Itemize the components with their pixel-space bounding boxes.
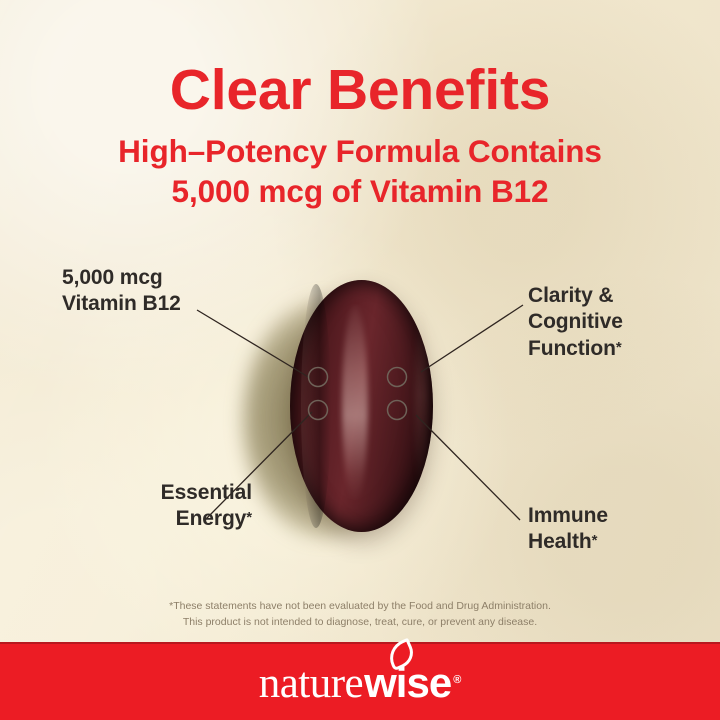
callout-dose-line-1: 5,000 mcg [62, 265, 252, 291]
callout-immune-line-2: Health* [528, 529, 708, 555]
footer-brand-band: nature wise ® [0, 642, 720, 720]
callout-energy: Essential Energy* [62, 480, 252, 533]
callout-energy-line-2-text: Energy [176, 507, 247, 530]
callout-dose-line-2: Vitamin B12 [62, 291, 252, 317]
fda-disclaimer: *These statements have not been evaluate… [0, 598, 720, 631]
subtitle-line-2: 5,000 mcg of Vitamin B12 [0, 171, 720, 211]
callout-clarity-asterisk: * [616, 339, 622, 356]
leader-line-clarity [421, 305, 523, 372]
callout-clarity-line-2: Cognitive [528, 309, 708, 335]
subtitle-line-1: High–Potency Formula Contains [0, 131, 720, 171]
callout-energy-line-2: Energy* [62, 506, 252, 532]
capsule-seam [301, 284, 331, 528]
logo-text-nature: nature [259, 659, 363, 708]
callout-energy-asterisk: * [246, 509, 252, 526]
callout-immune: Immune Health* [528, 503, 708, 556]
logo-text-wise: wise [364, 659, 451, 707]
callout-energy-line-1: Essential [62, 480, 252, 506]
callout-clarity-line-1: Clarity & [528, 283, 708, 309]
callout-immune-line-1: Immune [528, 503, 708, 529]
callout-immune-line-2-text: Health [528, 530, 592, 553]
callout-clarity-line-3: Function* [528, 336, 708, 362]
naturewise-logo: nature wise ® [0, 644, 720, 720]
page-title: Clear Benefits [0, 62, 720, 119]
callout-clarity: Clarity & Cognitive Function* [528, 283, 708, 362]
disclaimer-line-1: *These statements have not been evaluate… [0, 598, 720, 614]
callout-immune-asterisk: * [592, 532, 598, 549]
softgel-capsule-image [290, 280, 433, 532]
capsule-rim-light [415, 310, 428, 498]
product-infographic: Clear Benefits High–Potency Formula Cont… [0, 0, 720, 720]
registered-trademark-mark: ® [453, 674, 461, 686]
disclaimer-line-2: This product is not intended to diagnose… [0, 614, 720, 630]
capsule-specular-highlight [342, 306, 368, 502]
callout-clarity-line-3-text: Function [528, 337, 616, 360]
headline-block: Clear Benefits High–Potency Formula Cont… [0, 62, 720, 212]
callout-dose: 5,000 mcg Vitamin B12 [62, 265, 252, 318]
logo-inner: nature wise ® [259, 659, 462, 708]
